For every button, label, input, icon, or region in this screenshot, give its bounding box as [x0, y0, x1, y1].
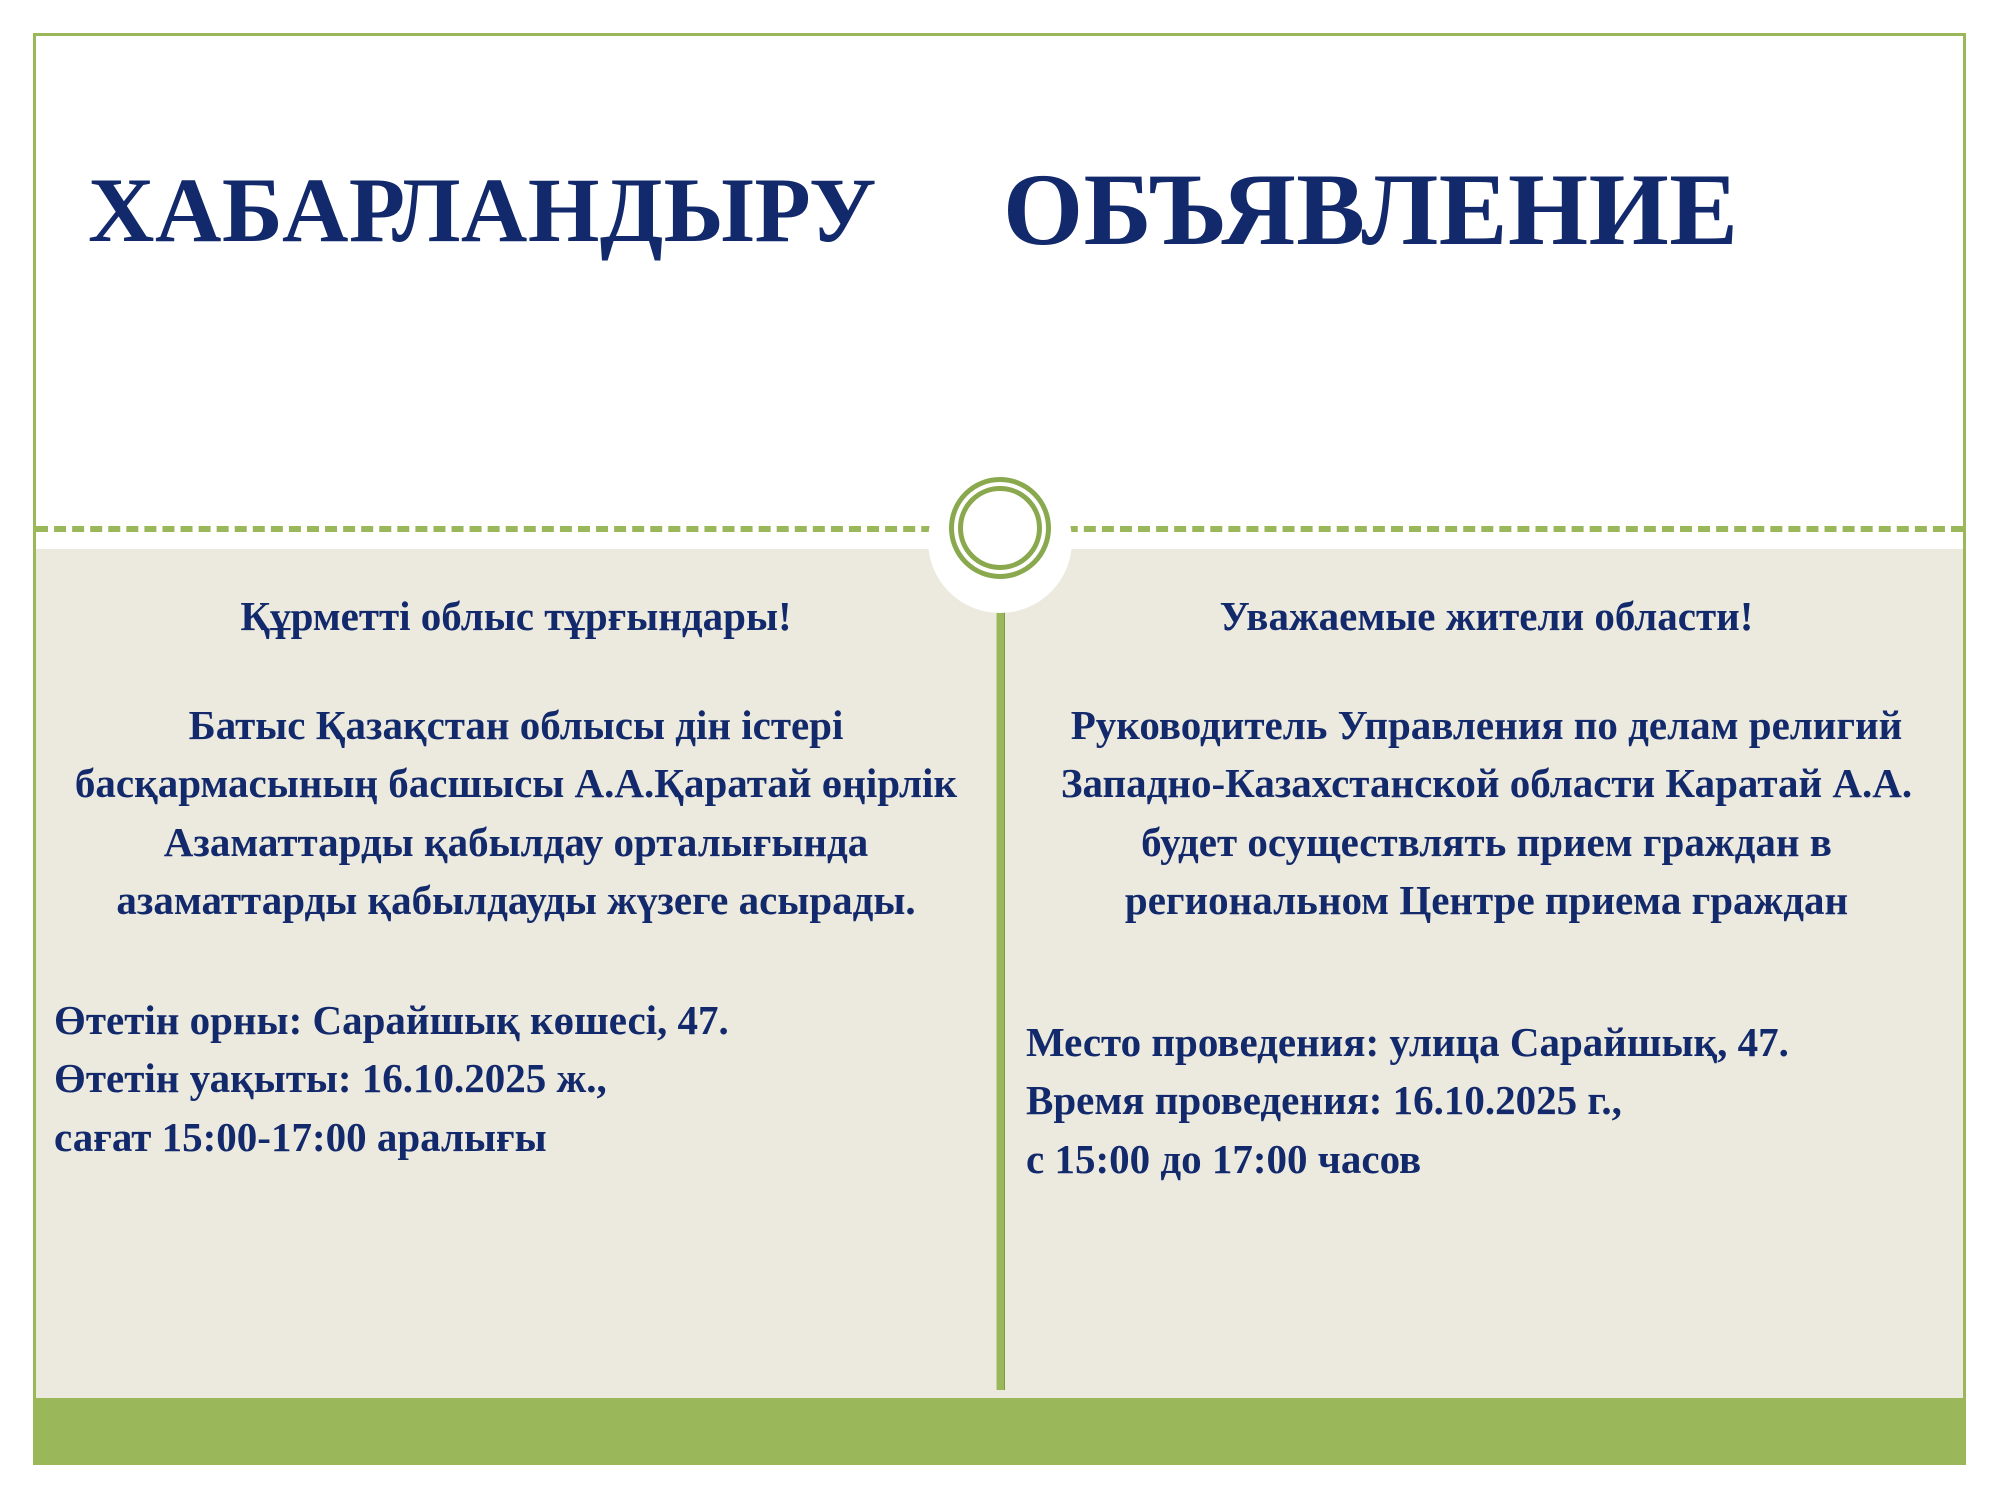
- detail-place-russian: Место проведения: улица Сарайшық, 47.: [1026, 1013, 1947, 1071]
- bottom-accent-bar: [36, 1398, 1963, 1465]
- circle-ornament-inner-ring-icon: [958, 486, 1042, 570]
- title-kazakh: ХАБАРЛАНДЫРУ: [88, 164, 877, 256]
- body-text-kazakh: Батыс Қазақстан облысы дін істері басқар…: [54, 696, 978, 929]
- content-columns: Құрметті облыс тұрғындары! Батыс Қазақст…: [36, 549, 1963, 1398]
- detail-place-kazakh: Өтетін орны: Сарайшық көшесі, 47.: [54, 991, 978, 1049]
- detail-time-kazakh: сағат 15:00-17:00 аралығы: [54, 1108, 978, 1166]
- greeting-kazakh: Құрметті облыс тұрғындары!: [54, 591, 978, 642]
- detail-time-russian: с 15:00 до 17:00 часов: [1026, 1130, 1947, 1188]
- detail-date-russian: Время проведения: 16.10.2025 г.,: [1026, 1071, 1947, 1129]
- greeting-russian: Уважаемые жители области!: [1026, 591, 1947, 642]
- title-row: ХАБАРЛАНДЫРУ ОБЪЯВЛЕНИЕ: [36, 120, 1963, 300]
- title-russian: ОБЪЯВЛЕНИЕ: [1003, 159, 1738, 262]
- details-kazakh: Өтетін орны: Сарайшық көшесі, 47. Өтетін…: [54, 991, 978, 1166]
- details-russian: Место проведения: улица Сарайшық, 47. Вр…: [1026, 1013, 1947, 1188]
- announcement-slide: ХАБАРЛАНДЫРУ ОБЪЯВЛЕНИЕ Құрметті облыс т…: [0, 0, 2000, 1500]
- column-kazakh: Құрметті облыс тұрғындары! Батыс Қазақст…: [36, 549, 1002, 1398]
- body-text-russian: Руководитель Управления по делам религий…: [1026, 696, 1947, 929]
- column-russian: Уважаемые жители области! Руководитель У…: [1002, 549, 1963, 1398]
- detail-date-kazakh: Өтетін уақыты: 16.10.2025 ж.,: [54, 1049, 978, 1107]
